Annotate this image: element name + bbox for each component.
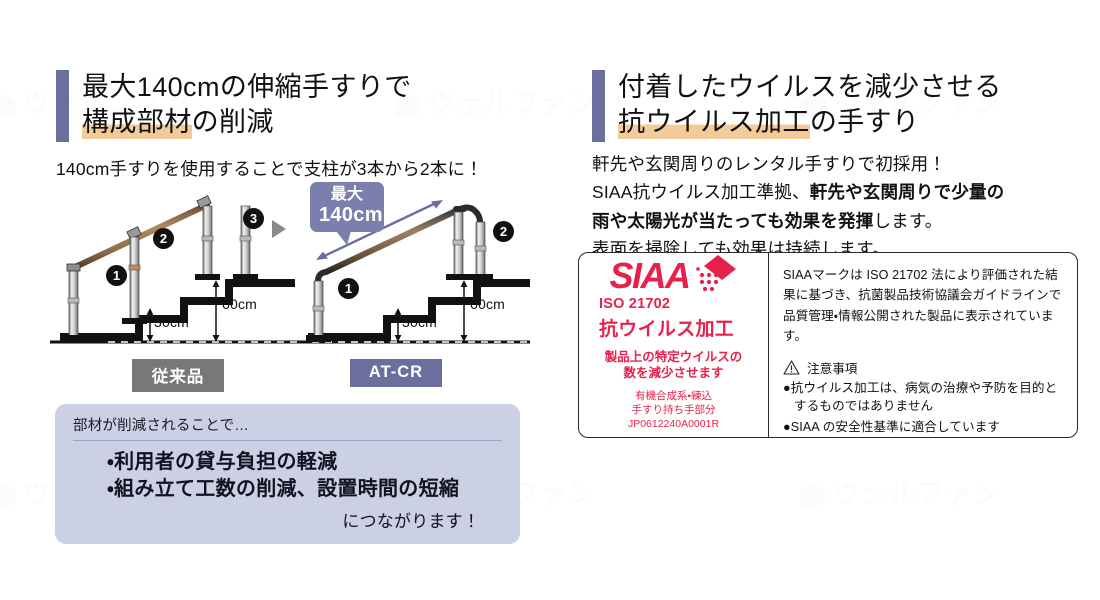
heading-line-2: 構成部材の削減: [82, 105, 274, 140]
siaa-sub-line: 製品上の特定ウイルスの: [605, 349, 743, 365]
lead-line-3: 雨や太陽光が当たっても効果を発揮します。: [592, 207, 1062, 235]
callout-line-1: 最大: [319, 186, 375, 204]
heading-line-2-rest: の手すり: [810, 107, 920, 137]
siaa-iso-number: ISO 21702: [599, 296, 670, 312]
benefit-item: ・組み立て工数の削減、設置時間の短縮: [73, 476, 502, 503]
benefits-box: 部材が削減されることで… ・利用者の貸与負担の軽減 ・組み立て工数の削減、設置時…: [55, 404, 520, 544]
heading-accent-bar: [56, 70, 69, 142]
siaa-code-line: 手すり持ち手部分: [632, 403, 716, 417]
callout-line-2: 140cm: [319, 204, 375, 226]
stair-handrail-diagram: [50, 180, 530, 390]
benefit-item: ・利用者の貸与負担の軽減: [73, 449, 502, 476]
siaa-description: SIAAマークは ISO 21702 法により評価された結果に基づき、抗菌製品技…: [783, 265, 1065, 347]
heading-line-2: 抗ウイルス加工の手すり: [618, 105, 919, 140]
post-number-badge: 1: [338, 278, 359, 299]
siaa-process: 抗ウイルス加工: [599, 314, 734, 341]
post-number-badge: 2: [153, 228, 174, 249]
lead-line-1: 軒先や玄関周りのレンタル手すりで初採用！: [592, 150, 1062, 178]
brochure-page: ウェルファン ウェルファン ウェルファン ウェルファン ウェルファン ウェルファ…: [0, 0, 1100, 600]
lead-line-2-b: 軒先や玄関周りで少量の: [810, 182, 1005, 202]
atcr-badge: AT-CR: [350, 359, 442, 387]
transition-arrow-icon: [272, 220, 286, 238]
caution-item: ●SIAA の安全性基準に適合しています: [783, 418, 1065, 437]
heading-line-2-rest: の削減: [192, 107, 274, 137]
siaa-code-line: JP0612240A0001R: [628, 417, 719, 431]
post-number-badge: 3: [243, 208, 264, 229]
heading-highlight: 構成部材: [82, 105, 192, 140]
heading-line-1: 最大140cmの伸縮手すりで: [82, 70, 412, 105]
siaa-sub-line: 数を減少させます: [623, 365, 723, 381]
left-panel: 最大140cmの伸縮手すりで 構成部材の削減 140cm手すりを使用することで支…: [0, 0, 560, 600]
heading-text: 最大140cmの伸縮手すりで 構成部材の削減: [82, 70, 412, 142]
comparison-illustration: 1 2 3 1 2 30cm 60cm 30cm 60cm 最大 140cm: [50, 180, 530, 390]
heading-line-1: 付着したウイルスを減少させる: [618, 70, 1002, 105]
lead-line-2: SIAA抗ウイルス加工準拠、軒先や玄関周りで少量の: [592, 178, 1062, 206]
warning-triangle-icon: [783, 360, 800, 375]
post-number-badge: 2: [493, 221, 514, 242]
siaa-wordmark: SIAA: [609, 259, 689, 293]
siaa-logo-row: SIAA: [609, 259, 737, 295]
lead-line-2-a: SIAA抗ウイルス加工準拠、: [592, 182, 810, 202]
dimension-30cm-atcr: 30cm: [402, 314, 437, 330]
benefits-tail: につながります！: [73, 507, 502, 532]
lead-line-3-a: します。: [873, 211, 942, 231]
siaa-code-line: 有機合成系・練込: [635, 389, 712, 403]
right-heading: 付着したウイルスを減少させる 抗ウイルス加工の手すり: [592, 70, 1002, 142]
heading-accent-bar: [592, 70, 605, 142]
max-length-callout: 最大 140cm: [310, 182, 384, 232]
left-heading: 最大140cmの伸縮手すりで 構成部材の削減: [56, 70, 412, 142]
siaa-explanation: SIAAマークは ISO 21702 法により評価された結果に基づき、抗菌製品技…: [769, 253, 1077, 437]
conventional-badge: 従来品: [132, 359, 224, 392]
siaa-certificate-box: SIAA ISO 21702 抗ウイルス加工 製品上の特定ウイルスの 数を減: [578, 252, 1078, 438]
caution-title-row: 注意事項: [783, 358, 1065, 377]
right-panel: 付着したウイルスを減少させる 抗ウイルス加工の手すり 軒先や玄関周りのレンタル手…: [560, 0, 1100, 600]
siaa-diamond-icon: [692, 253, 738, 295]
siaa-mark: SIAA ISO 21702 抗ウイルス加工 製品上の特定ウイルスの 数を減: [579, 253, 769, 437]
right-lead-text: 軒先や玄関周りのレンタル手すりで初採用！ SIAA抗ウイルス加工準拠、軒先や玄関…: [592, 150, 1062, 263]
heading-highlight: 抗ウイルス加工: [618, 105, 810, 140]
caution-item: ●抗ウイルス加工は、病気の治療や予防を目的とするものではありません: [783, 379, 1065, 417]
dimension-60cm-atcr: 60cm: [470, 296, 505, 312]
caution-section: 注意事項 ●抗ウイルス加工は、病気の治療や予防を目的とするものではありません ●…: [783, 358, 1065, 438]
dimension-60cm-conventional: 60cm: [222, 296, 257, 312]
dimension-30cm-conventional: 30cm: [154, 314, 189, 330]
lead-line-3-b: 雨や太陽光が当たっても効果を発揮: [592, 211, 873, 231]
post-number-badge: 1: [106, 265, 127, 286]
heading-text: 付着したウイルスを減少させる 抗ウイルス加工の手すり: [618, 70, 1002, 142]
benefits-heading: 部材が削減されることで…: [73, 414, 502, 441]
caution-title-text: 注意事項: [807, 358, 857, 377]
